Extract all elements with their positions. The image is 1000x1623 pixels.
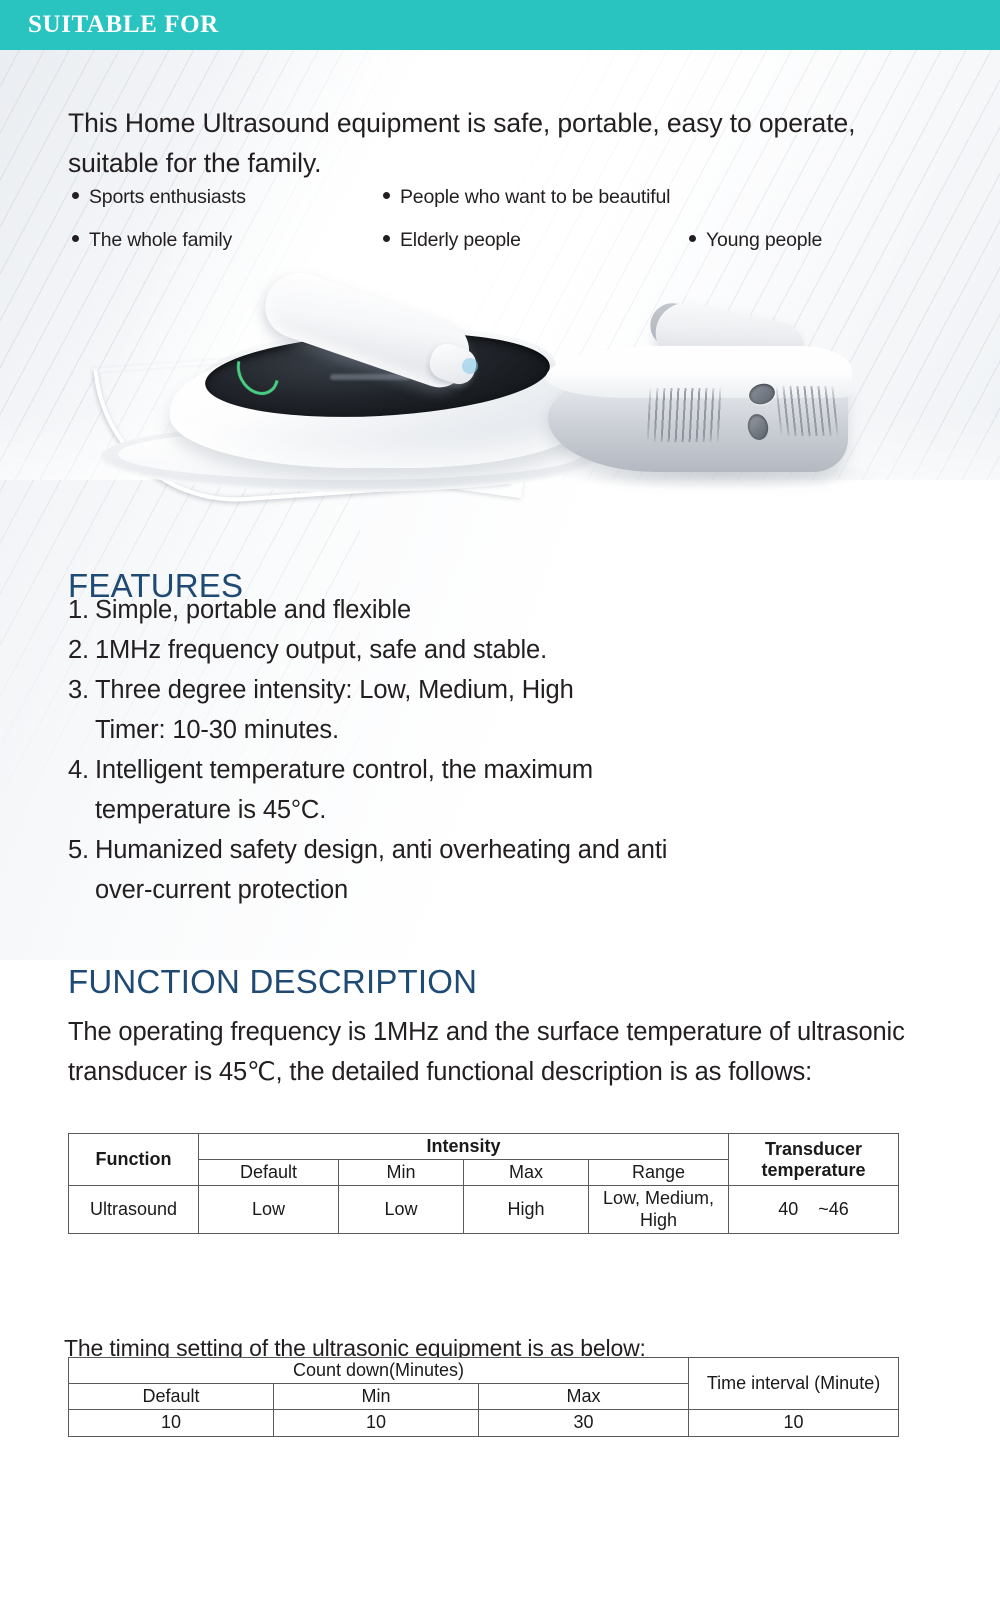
feature-item-5: 5. Humanized safety design, anti overhea… xyxy=(68,830,918,870)
bullet-young-people: Young people xyxy=(689,229,822,252)
feature-item-3: 3. Three degree intensity: Low, Medium, … xyxy=(68,670,918,710)
header-function: Function xyxy=(69,1134,199,1186)
feature-number: 1. xyxy=(68,590,95,630)
table-intensity: Function Intensity Transducer temperatur… xyxy=(68,1133,899,1234)
feature-text: 1MHz frequency output, safe and stable. xyxy=(95,630,918,670)
feature-text: Simple, portable and flexible xyxy=(95,590,918,630)
table-row: Ultrasound Low Low High Low, Medium, Hig… xyxy=(69,1186,899,1233)
cell-max: High xyxy=(464,1186,589,1233)
feature-item-1: 1. Simple, portable and flexible xyxy=(68,590,918,630)
section-header-title: SUITABLE FOR xyxy=(28,11,219,39)
cell-min: 10 xyxy=(274,1410,479,1436)
feature-text: Humanized safety design, anti overheatin… xyxy=(95,830,918,870)
bullet-sports-enthusiasts: Sports enthusiasts xyxy=(72,186,246,209)
vent-grille-right-icon xyxy=(775,386,840,436)
header-default: Default xyxy=(199,1160,339,1186)
bullet-dot-icon xyxy=(72,192,79,199)
bullet-label: Elderly people xyxy=(400,229,521,252)
cell-default: Low xyxy=(199,1186,339,1233)
feature-number-spacer xyxy=(68,870,95,910)
product-spec-page: SUITABLE FOR This Home Ultrasound equipm… xyxy=(0,0,1000,1623)
function-description-heading: FUNCTION DESCRIPTION xyxy=(68,963,477,1001)
feature-text-cont: Timer: 10-30 minutes. xyxy=(95,710,918,750)
feature-text: Intelligent temperature control, the max… xyxy=(95,750,918,790)
header-range: Range xyxy=(589,1160,729,1186)
feature-item-3-cont: Timer: 10-30 minutes. xyxy=(68,710,918,750)
vent-grille-left-icon xyxy=(647,388,724,442)
feature-number: 3. xyxy=(68,670,95,710)
header-default: Default xyxy=(69,1384,274,1410)
cell-function: Ultrasound xyxy=(69,1186,199,1233)
bullet-elderly-people: Elderly people xyxy=(383,229,521,252)
feature-text-cont: temperature is 45°C. xyxy=(95,790,918,830)
header-max: Max xyxy=(479,1384,689,1410)
table-row-header-group: Count down(Minutes) Time interval (Minut… xyxy=(69,1358,899,1384)
bullet-label: Young people xyxy=(706,229,822,252)
feature-number: 2. xyxy=(68,630,95,670)
cell-default: 10 xyxy=(69,1410,274,1436)
feature-item-4: 4. Intelligent temperature control, the … xyxy=(68,750,918,790)
cell-range: Low, Medium, High xyxy=(589,1186,729,1233)
feature-number: 5. xyxy=(68,830,95,870)
header-count-down-group: Count down(Minutes) xyxy=(69,1358,689,1384)
header-min: Min xyxy=(339,1160,464,1186)
table-timing: Count down(Minutes) Time interval (Minut… xyxy=(68,1357,899,1437)
header-intensity-group: Intensity xyxy=(199,1134,729,1160)
header-min: Min xyxy=(274,1384,479,1410)
header-transducer-temperature: Transducer temperature xyxy=(729,1134,899,1186)
bullet-label: The whole family xyxy=(89,229,232,252)
bullet-label: People who want to be beautiful xyxy=(400,186,670,209)
function-description-paragraph: The operating frequency is 1MHz and the … xyxy=(68,1012,938,1092)
cell-time-interval: 10 xyxy=(689,1410,899,1436)
audience-bullet-grid: Sports enthusiasts People who want to be… xyxy=(72,186,932,272)
feature-text-cont: over-current protection xyxy=(95,870,918,910)
feature-number-spacer xyxy=(68,710,95,750)
intro-paragraph: This Home Ultrasound equipment is safe, … xyxy=(68,103,858,183)
cell-max: 30 xyxy=(479,1410,689,1436)
cell-transducer-temperature: 40~46 xyxy=(729,1186,899,1233)
table-row-header-group: Function Intensity Transducer temperatur… xyxy=(69,1134,899,1160)
feature-number-spacer xyxy=(68,790,95,830)
section-header-bar: SUITABLE FOR xyxy=(0,0,1000,50)
audience-bullet-row: Sports enthusiasts People who want to be… xyxy=(72,186,932,229)
product-photo xyxy=(0,262,1000,542)
bullet-dot-icon xyxy=(72,235,79,242)
temp-high: ~46 xyxy=(818,1199,849,1219)
features-list: 1. Simple, portable and flexible 2. 1MHz… xyxy=(68,590,918,910)
feature-number: 4. xyxy=(68,750,95,790)
bullet-people-who-want-to-be-beautiful: People who want to be beautiful xyxy=(383,186,670,209)
probe-connector-ring xyxy=(462,358,478,374)
feature-text: Three degree intensity: Low, Medium, Hig… xyxy=(95,670,918,710)
feature-item-4-cont: temperature is 45°C. xyxy=(68,790,918,830)
bullet-dot-icon xyxy=(383,235,390,242)
feature-item-5-cont: over-current protection xyxy=(68,870,918,910)
header-time-interval: Time interval (Minute) xyxy=(689,1358,899,1410)
feature-item-2: 2. 1MHz frequency output, safe and stabl… xyxy=(68,630,918,670)
temp-low: 40 xyxy=(778,1199,798,1219)
bullet-dot-icon xyxy=(689,235,696,242)
bullet-the-whole-family: The whole family xyxy=(72,229,232,252)
cell-min: Low xyxy=(339,1186,464,1233)
table-row: 10 10 30 10 xyxy=(69,1410,899,1436)
header-max: Max xyxy=(464,1160,589,1186)
bullet-dot-icon xyxy=(383,192,390,199)
bullet-label: Sports enthusiasts xyxy=(89,186,246,209)
